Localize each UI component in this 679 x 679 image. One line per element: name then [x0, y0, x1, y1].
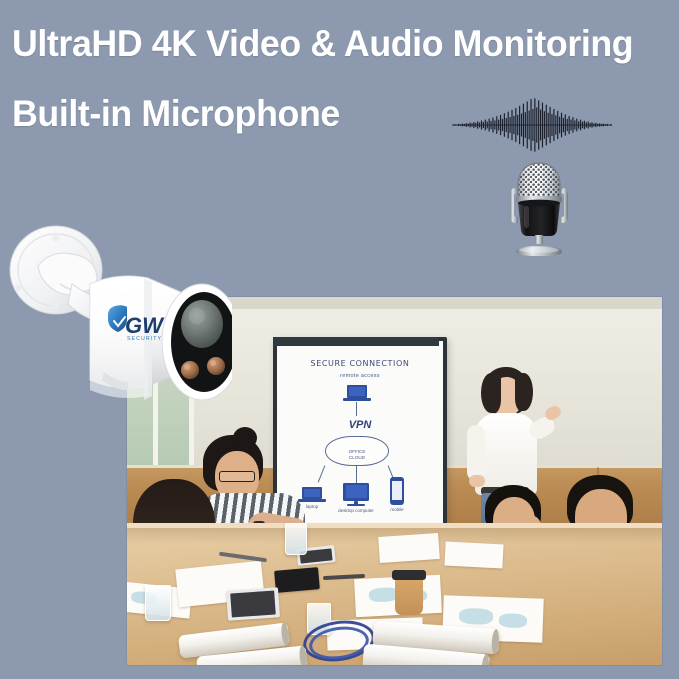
coffee-cup-lid [392, 570, 426, 580]
bullet-security-camera: GW SECURITY [0, 222, 232, 422]
coffee-cup [395, 575, 423, 615]
product-feature-banner: UltraHD 4K Video & Audio Monitoring Buil… [0, 0, 679, 679]
whiteboard-laptop-screen [349, 387, 365, 396]
audio-waveform-icon [452, 96, 612, 154]
whiteboard-device-screen [392, 481, 402, 500]
flipchart-top-rail [273, 337, 439, 346]
attendee-hair-bun [233, 427, 257, 449]
whiteboard-cloud-label: OFFICE CLOUD [326, 449, 388, 461]
water-glass [145, 585, 171, 621]
calculator [274, 567, 320, 593]
document [378, 533, 440, 563]
whiteboard-title: SECURE CONNECTION [277, 359, 443, 368]
document [444, 541, 503, 568]
tablet [226, 587, 280, 621]
whiteboard-laptop-base [343, 398, 371, 401]
whiteboard-monitor-foot [347, 504, 365, 506]
retro-microphone-icon [502, 158, 576, 256]
headline-line-1: UltraHD 4K Video & Audio Monitoring [12, 23, 633, 65]
whiteboard-arrow [356, 402, 357, 416]
whiteboard-arrow [356, 465, 357, 483]
whiteboard-device-screen [346, 485, 367, 498]
water-glass [285, 523, 307, 555]
document-chart [459, 608, 494, 625]
tablet-screen [230, 590, 276, 617]
whiteboard-vpn-label: VPN [277, 419, 443, 431]
whiteboard-subtitle: remote access [277, 373, 443, 379]
headline-line-2: Built-in Microphone [12, 93, 340, 135]
presenter-arm-left [467, 425, 485, 481]
whiteboard-arrow [318, 465, 326, 482]
document-chart [499, 613, 527, 628]
whiteboard-caption-mobile: mobile [380, 507, 414, 512]
whiteboard-cloud: OFFICE CLOUD [325, 436, 389, 466]
presenter-hair-side [481, 373, 501, 413]
svg-text:SECURITY: SECURITY [127, 336, 162, 342]
presenter-hair-side [515, 373, 533, 411]
svg-text:GW: GW [125, 313, 165, 338]
whiteboard-caption-desktop: desktop computer [334, 508, 378, 513]
